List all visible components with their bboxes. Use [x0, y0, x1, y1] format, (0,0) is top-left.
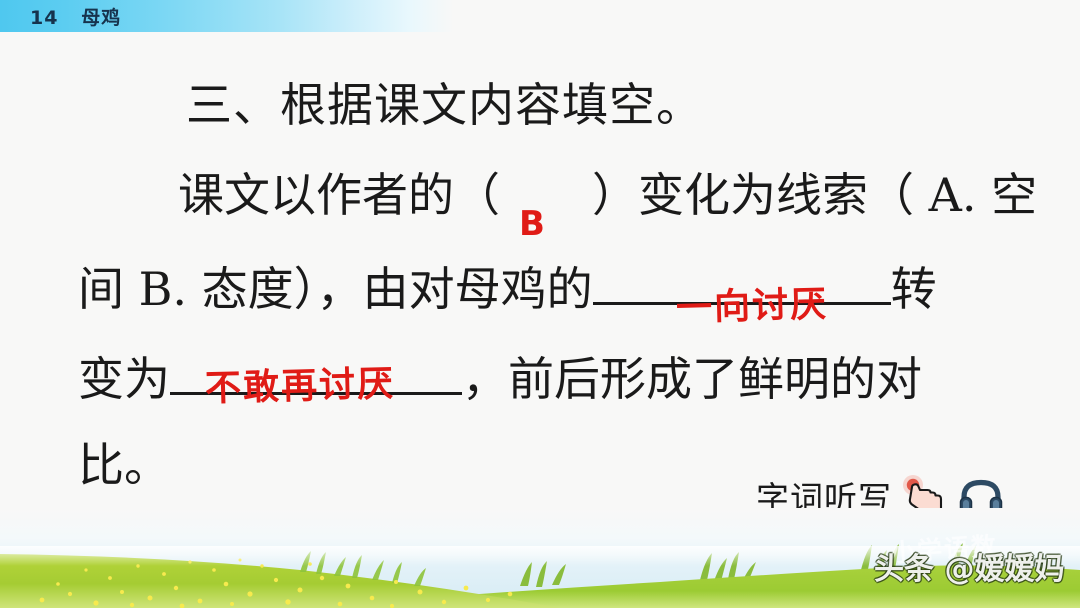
lesson-title: 14 母鸡: [30, 3, 121, 30]
answer-blank-1: 一向讨厌: [675, 275, 828, 331]
slide-canvas: 14 母鸡 三、根据课文内容填空。 课文以作者的（）变化为线索（ A. 空 间 …: [0, 0, 1080, 608]
line2-text-before: 课文以作者的（: [178, 172, 500, 218]
answer-choice-letter: B: [519, 204, 545, 244]
exercise-line-2: 课文以作者的（）变化为线索（ A. 空: [178, 172, 1037, 218]
line4-text-after: ，前后形成了鲜明的对: [462, 356, 922, 402]
line2-text-after: ）变化为线索（ A. 空: [592, 172, 1037, 218]
exercise-line-5: 比。: [78, 442, 170, 488]
exercise-heading: 三、根据课文内容填空。: [186, 82, 703, 128]
watermark-handle-text: 头条 @嫒嫒妈: [874, 544, 1064, 588]
line4-text-before: 变为: [78, 356, 170, 402]
lesson-header-bar: 14 母鸡: [0, 0, 1080, 32]
answer-blank-2: 不敢再讨厌: [204, 355, 395, 412]
line3-text-before: 间 B. 态度），由对母鸡的: [78, 266, 593, 312]
watermark: 小学语数 头条 @嫒嫒妈: [872, 530, 1072, 600]
exercise-content: 三、根据课文内容填空。 课文以作者的（）变化为线索（ A. 空 间 B. 态度）…: [0, 32, 1080, 532]
line3-text-after: 转: [891, 266, 937, 312]
